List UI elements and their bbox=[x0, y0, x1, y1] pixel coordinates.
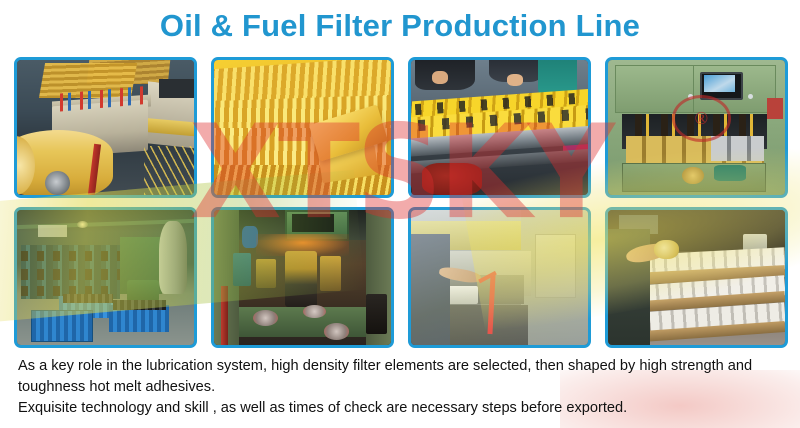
photo-filter-paper-pleating-machine[interactable] bbox=[14, 57, 197, 198]
photo-green-seaming-machine[interactable]: ® bbox=[605, 57, 788, 198]
photo-gallery-grid: ® bbox=[14, 57, 788, 348]
caption-line-2: Exquisite technology and skill , as well… bbox=[18, 398, 786, 419]
photo-cartridge-assembly-conveyor[interactable] bbox=[408, 57, 591, 198]
photo-warehouse-blue-crates[interactable] bbox=[14, 207, 197, 348]
product-banner: Oil & Fuel Filter Production Line bbox=[0, 0, 800, 428]
photo-painted-canister-drying-rack[interactable] bbox=[605, 207, 788, 348]
caption-block: As a key role in the lubrication system,… bbox=[18, 356, 786, 419]
photo-washing-testing-station[interactable] bbox=[408, 207, 591, 348]
photo-pleated-filter-elements[interactable] bbox=[211, 57, 394, 198]
caption-line-1: As a key role in the lubrication system,… bbox=[18, 356, 786, 398]
photo-hot-press-crimping-station[interactable] bbox=[211, 207, 394, 348]
registered-trademark-icon: ® bbox=[672, 95, 731, 142]
page-title: Oil & Fuel Filter Production Line bbox=[0, 8, 800, 44]
